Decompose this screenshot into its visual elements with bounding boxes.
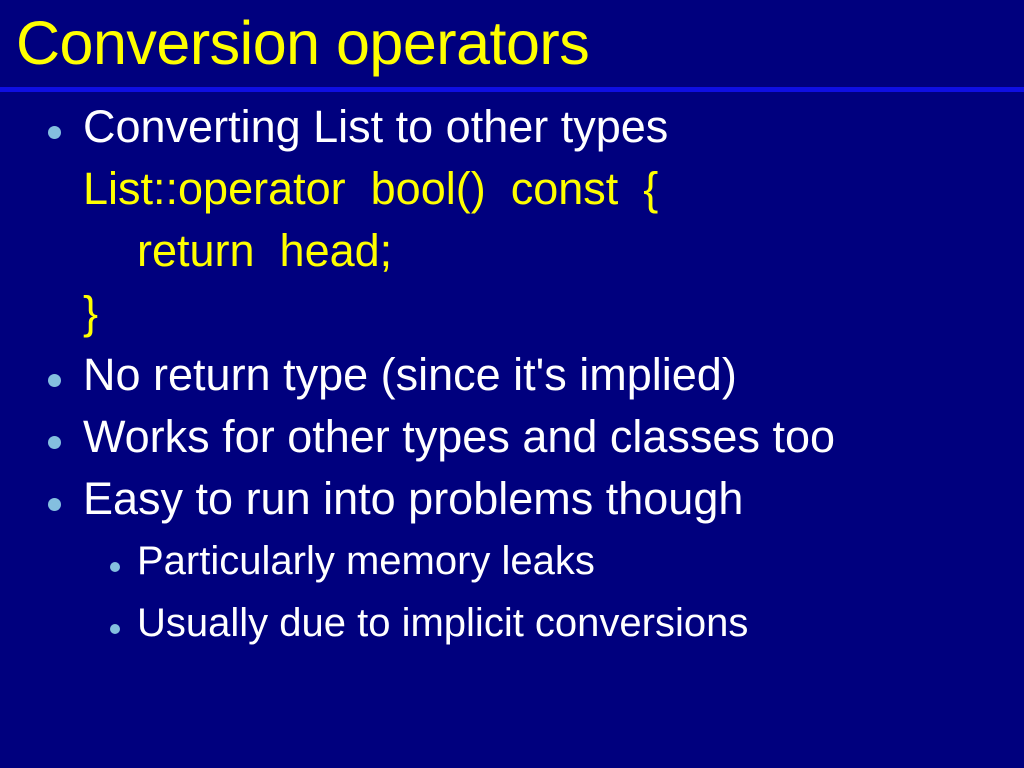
code-text: return head; bbox=[137, 220, 392, 282]
bullet-marker-icon bbox=[48, 436, 61, 449]
code-text: List::operator bool() const { bbox=[83, 158, 658, 220]
sub-bullet-marker-icon bbox=[110, 562, 120, 572]
code-line: } bbox=[0, 282, 1024, 344]
code-line: return head; bbox=[0, 220, 1024, 282]
slide-body: Converting List to other types List::ope… bbox=[0, 96, 1024, 768]
bullet-text: Easy to run into problems though bbox=[83, 468, 743, 530]
sub-bullet-item: Particularly memory leaks bbox=[0, 530, 1024, 592]
bullet-text: No return type (since it's implied) bbox=[83, 344, 737, 406]
bullet-marker-icon bbox=[48, 498, 61, 511]
bullet-item: Easy to run into problems though bbox=[0, 468, 1024, 530]
bullet-text: Converting List to other types bbox=[83, 96, 668, 158]
sub-bullet-item: Usually due to implicit conversions bbox=[0, 592, 1024, 654]
bullet-marker-icon bbox=[48, 126, 61, 139]
sub-bullet-marker-icon bbox=[110, 624, 120, 634]
slide: Conversion operators Converting List to … bbox=[0, 0, 1024, 768]
bullet-marker-icon bbox=[48, 374, 61, 387]
sub-bullet-text: Particularly memory leaks bbox=[137, 530, 595, 592]
page-title: Conversion operators bbox=[16, 6, 589, 80]
bullet-item: No return type (since it's implied) bbox=[0, 344, 1024, 406]
title-band: Conversion operators bbox=[0, 0, 1024, 88]
bullet-item: Converting List to other types bbox=[0, 96, 1024, 158]
bullet-item: Works for other types and classes too bbox=[0, 406, 1024, 468]
code-text: } bbox=[83, 282, 98, 344]
bullet-text: Works for other types and classes too bbox=[83, 406, 835, 468]
code-line: List::operator bool() const { bbox=[0, 158, 1024, 220]
sub-bullet-text: Usually due to implicit conversions bbox=[137, 592, 748, 654]
title-divider bbox=[0, 87, 1024, 92]
